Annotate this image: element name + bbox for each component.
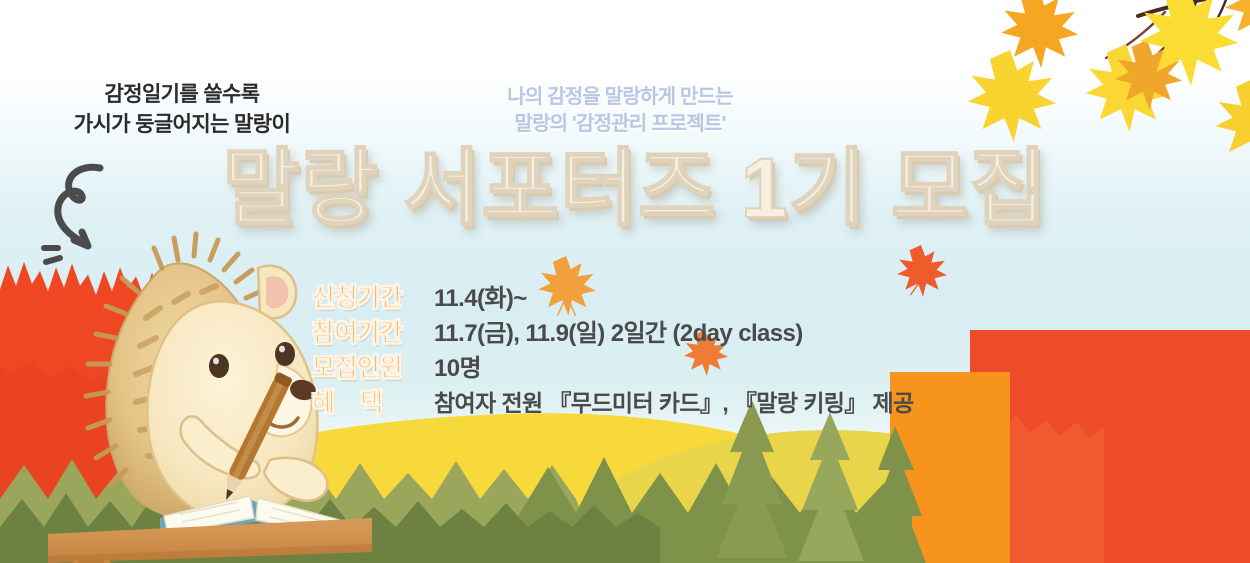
- promo-poster: 감정일기를 쓸수록 가시가 둥글어지는 말랑이 나의 감정을 말랑하게 만드는 …: [0, 0, 1250, 563]
- kicker-text: 감정일기를 쓸수록 가시가 둥글어지는 말랑이: [52, 80, 312, 140]
- info-label: 신청기간: [312, 278, 434, 314]
- info-value: 11.7(금), 11.9(일) 2일간 (2day class): [434, 313, 803, 348]
- info-row-application-period: 신청기간 11.4(화)~: [312, 278, 1012, 313]
- subtitle-text: 나의 감정을 말랑하게 만드는 말랑의 '감정관리 프로젝트': [420, 84, 820, 138]
- info-label: 참여기간: [312, 313, 434, 349]
- info-row-participation-period: 참여기간 11.7(금), 11.9(일) 2일간 (2day class): [312, 313, 1012, 348]
- info-value: 참여자 전원 『무드미터 카드』, 『말랑 키링』 제공: [434, 384, 914, 418]
- info-row-benefits: 혜 택 참여자 전원 『무드미터 카드』, 『말랑 키링』 제공: [312, 383, 1012, 418]
- info-row-headcount: 모집인원 10명: [312, 348, 1012, 383]
- page-title: 말랑 서포터즈 1기 모집: [0, 146, 1250, 230]
- info-label: 모집인원: [312, 348, 434, 384]
- info-value: 11.4(화)~: [434, 278, 527, 313]
- info-list: 신청기간 11.4(화)~ 참여기간 11.7(금), 11.9(일) 2일간 …: [312, 278, 1012, 418]
- info-value: 10명: [434, 348, 481, 383]
- info-label: 혜 택: [312, 383, 434, 419]
